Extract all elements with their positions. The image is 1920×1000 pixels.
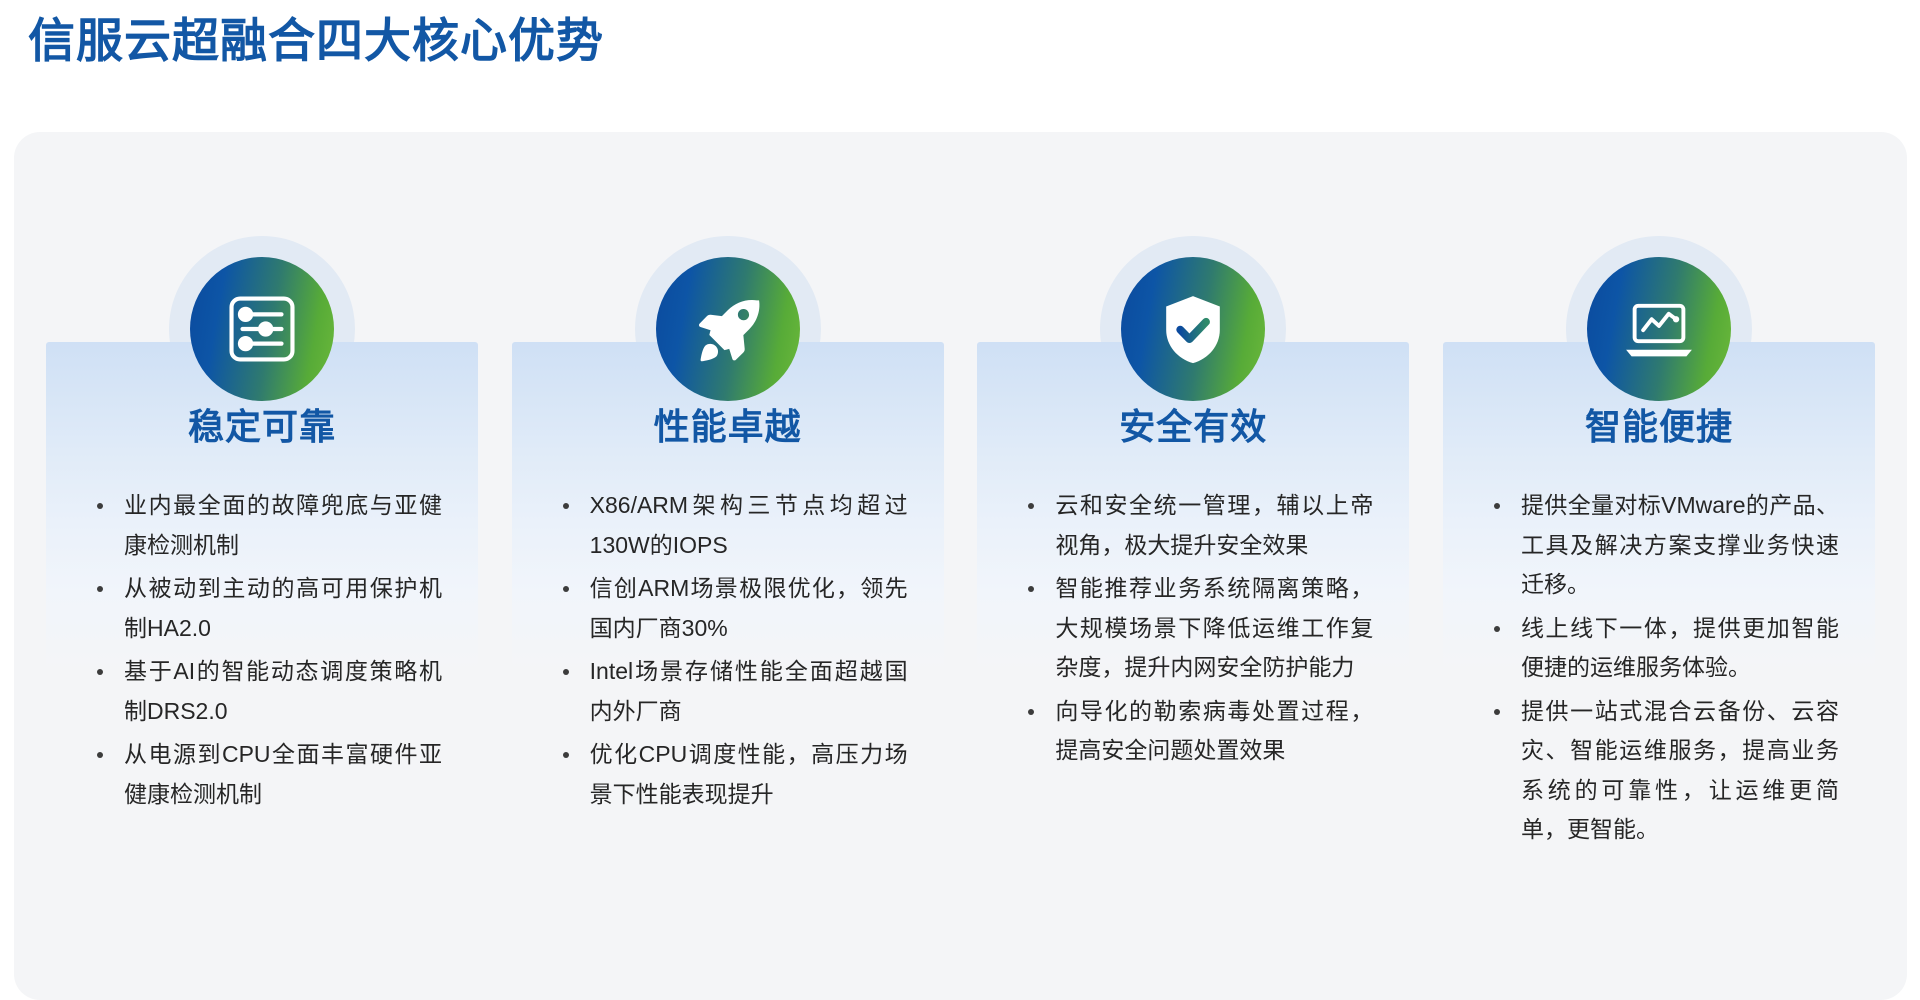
list-item: 从电源到CPU全面丰富硬件亚健康检测机制 — [90, 735, 442, 814]
advantage-card-intelligent[interactable]: 智能便捷 提供全量对标VMware的产品、工具及解决方案支撑业务快速迁移。 线上… — [1443, 132, 1875, 1000]
advantage-card-stability[interactable]: 稳定可靠 业内最全面的故障兜底与亚健康检测机制 从被动到主动的高可用保护机制HA… — [46, 132, 478, 1000]
page-title: 信服云超融合四大核心优势 — [28, 12, 604, 71]
rocket-icon — [656, 257, 800, 401]
list-item: 智能推荐业务系统隔离策略，大规模场景下降低运维工作复杂度，提升内网安全防护能力 — [1021, 569, 1373, 688]
sliders-icon — [190, 257, 334, 401]
card-bullet-list: 业内最全面的故障兜底与亚健康检测机制 从被动到主动的高可用保护机制HA2.0 基… — [56, 486, 468, 814]
list-item: 信创ARM场景极限优化，领先国内厂商30% — [556, 569, 908, 648]
list-item: Intel场景存储性能全面超越国内外厂商 — [556, 652, 908, 731]
card-bullet-list: X86/ARM架构三节点均超过130W的IOPS 信创ARM场景极限优化，领先国… — [522, 486, 934, 814]
advantage-card-performance[interactable]: 性能卓越 X86/ARM架构三节点均超过130W的IOPS 信创ARM场景极限优… — [512, 132, 944, 1000]
card-body: 安全有效 云和安全统一管理，辅以上帝视角，极大提升安全效果 智能推荐业务系统隔离… — [977, 342, 1409, 962]
advantage-card-security[interactable]: 安全有效 云和安全统一管理，辅以上帝视角，极大提升安全效果 智能推荐业务系统隔离… — [977, 132, 1409, 1000]
card-bullet-list: 提供全量对标VMware的产品、工具及解决方案支撑业务快速迁移。 线上线下一体，… — [1453, 486, 1865, 850]
list-item: 线上线下一体，提供更加智能便捷的运维服务体验。 — [1487, 609, 1839, 688]
list-item: 基于AI的智能动态调度策略机制DRS2.0 — [90, 652, 442, 731]
list-item: 提供一站式混合云备份、云容灾、智能运维服务，提高业务系统的可靠性，让运维更简单，… — [1487, 692, 1839, 850]
list-item: 优化CPU调度性能，高压力场景下性能表现提升 — [556, 735, 908, 814]
list-item: 从被动到主动的高可用保护机制HA2.0 — [90, 569, 442, 648]
laptop-chart-icon — [1587, 257, 1731, 401]
card-body: 性能卓越 X86/ARM架构三节点均超过130W的IOPS 信创ARM场景极限优… — [512, 342, 944, 962]
advantage-cards-row: 稳定可靠 业内最全面的故障兜底与亚健康检测机制 从被动到主动的高可用保护机制HA… — [14, 132, 1907, 1000]
list-item: 向导化的勒索病毒处置过程，提高安全问题处置效果 — [1021, 692, 1373, 771]
list-item: 云和安全统一管理，辅以上帝视角，极大提升安全效果 — [1021, 486, 1373, 565]
card-bullet-list: 云和安全统一管理，辅以上帝视角，极大提升安全效果 智能推荐业务系统隔离策略，大规… — [987, 486, 1399, 771]
list-item: X86/ARM架构三节点均超过130W的IOPS — [556, 486, 908, 565]
list-item: 提供全量对标VMware的产品、工具及解决方案支撑业务快速迁移。 — [1487, 486, 1839, 605]
card-body: 稳定可靠 业内最全面的故障兜底与亚健康检测机制 从被动到主动的高可用保护机制HA… — [46, 342, 478, 962]
card-body: 智能便捷 提供全量对标VMware的产品、工具及解决方案支撑业务快速迁移。 线上… — [1443, 342, 1875, 962]
shield-check-icon — [1121, 257, 1265, 401]
list-item: 业内最全面的故障兜底与亚健康检测机制 — [90, 486, 442, 565]
